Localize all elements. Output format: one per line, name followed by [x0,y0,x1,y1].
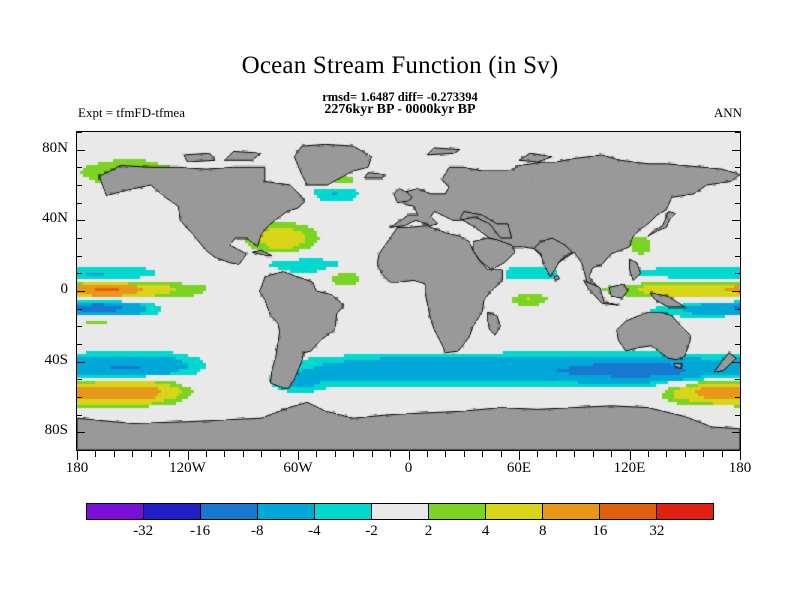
y-axis-tick [735,238,741,239]
x-axis-tick [95,451,96,457]
y-axis-tick [732,220,741,221]
x-axis-tick [224,451,225,457]
experiment-label: Expt = tfmFD-tfmea [78,105,185,121]
colorbar-label: 32 [622,523,692,540]
x-axis-tick [574,451,575,457]
y-axis-tick [76,256,82,257]
x-axis-tick [648,451,649,457]
x-axis-label: 0 [369,460,449,477]
y-axis-label: 80N [12,140,68,157]
y-axis-tick [76,167,82,168]
page-title: Ocean Stream Function (in Sv) [0,52,800,80]
y-axis-tick [76,273,82,274]
x-axis-tick [114,451,115,457]
y-axis-tick [732,432,741,433]
x-axis-label: 120W [148,460,228,477]
x-axis-tick [537,451,538,457]
colorbar-segment [543,504,600,519]
colorbar-segment [657,504,713,519]
colorbar-segment [429,504,486,519]
x-axis-tick [298,451,299,460]
y-axis-tick [735,203,741,204]
y-axis-tick [76,132,82,133]
y-axis-tick [735,132,741,133]
y-axis-tick [735,309,741,310]
x-axis-tick [409,451,410,460]
y-axis-tick [76,220,85,221]
season-label: ANN [714,105,742,121]
y-axis-tick [76,432,85,433]
x-axis-tick [261,451,262,457]
x-axis-label: 120E [590,460,670,477]
y-axis-tick [735,167,741,168]
colorbar-segment [486,504,543,519]
x-axis-tick [630,451,631,460]
y-axis-tick [732,150,741,151]
y-axis-tick [735,379,741,380]
y-axis-label: 40N [12,210,68,227]
y-axis-tick [735,450,741,451]
x-axis-tick [243,451,244,457]
x-axis-tick [427,451,428,457]
figure-canvas: Ocean Stream Function (in Sv) rmsd= 1.64… [0,0,800,600]
y-axis-label: 0 [12,281,68,298]
x-axis-tick [501,451,502,457]
x-axis-tick [280,451,281,457]
colorbar-segment [600,504,657,519]
x-axis-tick [77,451,78,460]
x-axis-tick [722,451,723,457]
y-axis-tick [76,150,85,151]
y-axis-tick [735,273,741,274]
x-axis-label: 60W [258,460,338,477]
y-axis-tick [735,185,741,186]
y-axis-tick [76,362,85,363]
y-axis-tick [735,415,741,416]
x-axis-tick [151,451,152,457]
y-axis-tick [76,415,82,416]
map-plot-area [76,131,741,451]
x-axis-tick [519,451,520,460]
colorbar-segment [258,504,315,519]
x-axis-label: 180 [37,460,117,477]
x-axis-label: 180 [700,460,780,477]
y-axis-tick [732,291,741,292]
y-axis-label: 40S [12,352,68,369]
y-axis-tick [735,326,741,327]
y-axis-tick [735,256,741,257]
colorbar-segment [315,504,372,519]
x-axis-tick [390,451,391,457]
y-axis-tick [76,379,82,380]
x-axis-tick [132,451,133,457]
y-axis-tick [76,203,82,204]
x-axis-tick [740,451,741,460]
colorbar-segment [372,504,429,519]
colorbar-segment [201,504,258,519]
x-axis-tick [335,451,336,457]
map-raster [77,132,740,450]
y-axis-tick [76,344,82,345]
x-axis-tick [169,451,170,457]
y-axis-label: 80S [12,422,68,439]
y-axis-tick [76,397,82,398]
x-axis-tick [556,451,557,457]
y-axis-tick [76,326,82,327]
y-axis-tick [76,238,82,239]
x-axis-tick [685,451,686,457]
x-axis-tick [206,451,207,457]
x-axis-tick [666,451,667,457]
x-axis-tick [316,451,317,457]
y-axis-tick [76,185,82,186]
x-axis-tick [188,451,189,460]
y-axis-tick [76,291,85,292]
x-axis-tick [703,451,704,457]
x-axis-tick [464,451,465,457]
colorbar-segment [144,504,201,519]
colorbar-segment [87,504,144,519]
x-axis-label: 60E [479,460,559,477]
y-axis-tick [735,397,741,398]
colorbar [86,503,714,520]
y-axis-tick [76,450,82,451]
x-axis-tick [593,451,594,457]
x-axis-tick [372,451,373,457]
x-axis-tick [445,451,446,457]
x-axis-tick [611,451,612,457]
x-axis-tick [482,451,483,457]
y-axis-tick [76,309,82,310]
y-axis-tick [732,362,741,363]
y-axis-tick [735,344,741,345]
x-axis-tick [353,451,354,457]
